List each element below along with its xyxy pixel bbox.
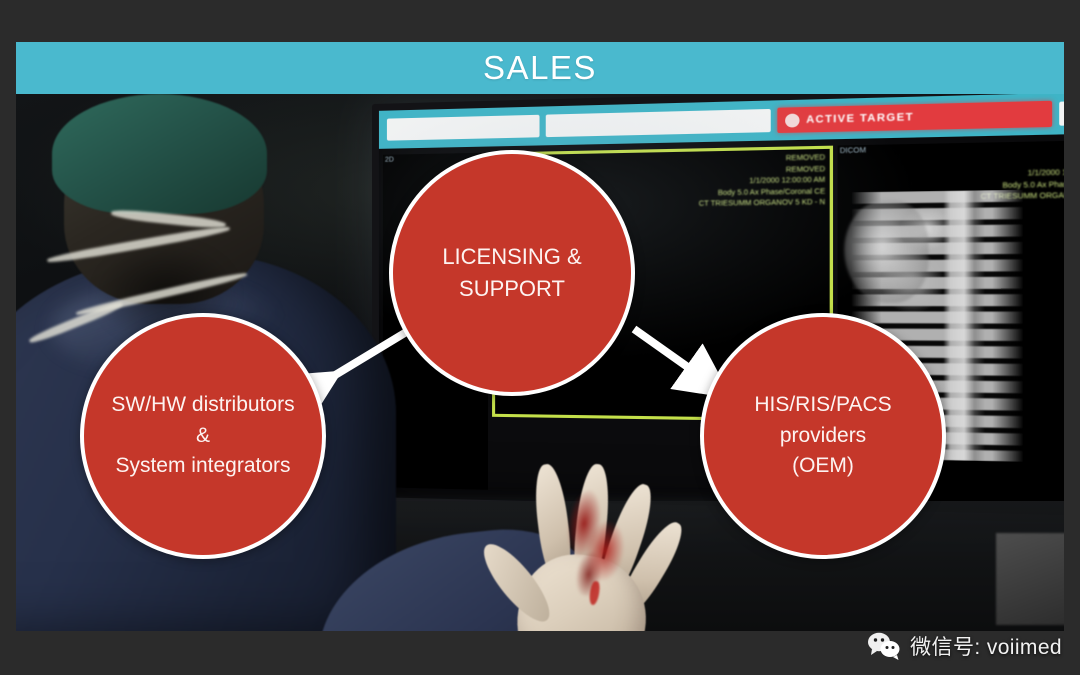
equipment-cabinet [996,533,1064,625]
presentation-slide: SALES ACTIVE TARGET 2D REMOVED REMOVED 1… [0,0,1080,675]
gloved-hand [489,453,713,631]
circle-his-ris-pacs-oem-label: HIS/RIS/PACS providers (OEM) [742,390,903,481]
wechat-icon [867,631,901,661]
toolbar-field-series [1059,97,1064,126]
surgical-cap [52,94,267,214]
active-target-badge: ACTIVE TARGET [777,101,1052,133]
pane-tab-right-label: DICOM [840,147,866,155]
toolbar-field-patient [387,115,540,141]
pane-tab-left-label: 2D [385,157,394,164]
watermark-text: 微信号: voiimed [910,631,1062,661]
watermark: 微信号: voiimed [867,631,1062,661]
page-title: SALES [483,49,597,87]
circle-distributors-integrators[interactable]: SW/HW distributors & System integrators [80,313,326,559]
ct-organ-region [844,200,928,303]
circle-licensing-support[interactable]: LICENSING & SUPPORT [389,150,635,396]
slide-title-bar: SALES [16,42,1064,94]
circle-his-ris-pacs-oem[interactable]: HIS/RIS/PACS providers (OEM) [700,313,946,559]
dicom-overlay-text-center: REMOVED REMOVED 1/1/2000 12:00:00 AM Bod… [699,153,825,210]
imaging-app-toolbar: ACTIVE TARGET [379,94,1064,149]
active-target-label: ACTIVE TARGET [806,111,914,125]
toolbar-field-study [546,109,771,137]
circle-distributors-integrators-label: SW/HW distributors & System integrators [99,390,306,481]
active-target-dot-icon [785,113,799,127]
circle-licensing-support-label: LICENSING & SUPPORT [430,241,593,305]
